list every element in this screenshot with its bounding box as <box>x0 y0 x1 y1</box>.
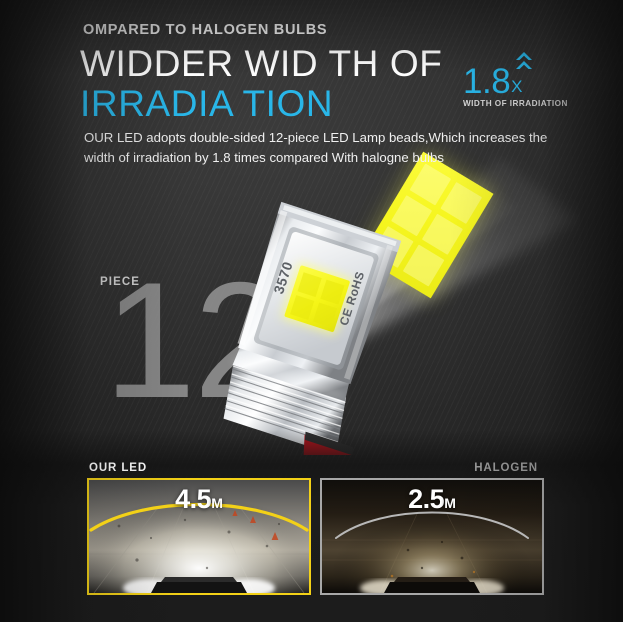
headline-line-1: WIDDER WID TH OF <box>80 45 442 82</box>
advertisement-banner: 12 PIECE <box>0 0 623 622</box>
chip-cell <box>422 213 464 255</box>
watermark-piece-label: PIECE <box>100 276 140 288</box>
panel-label-halogen: HALOGEN <box>458 462 538 474</box>
distance-number-led: 4.5 <box>175 484 211 514</box>
comparison-panel-our-led: 4.5M <box>87 478 311 595</box>
distance-unit-halogen: M <box>444 495 456 511</box>
badge-multiplier-symbol: X <box>511 78 522 98</box>
distance-value-led: 4.5M <box>89 484 309 515</box>
distance-number-halogen: 2.5 <box>408 484 444 514</box>
irradiation-multiplier-badge: 1.8 X WIDTH OF IRRADIATION <box>463 58 573 108</box>
distance-value-halogen: 2.5M <box>322 484 542 515</box>
body-description-text: OUR LED adopts double-sided 12-piece LED… <box>84 128 581 169</box>
led-bulb-product-image: 3570 CE RoHS <box>190 185 420 455</box>
panel-label-our-led: OUR LED <box>89 462 147 474</box>
comparison-panel-halogen: 2.5M <box>320 478 544 595</box>
headline-line-2: IRRADIA TION <box>80 85 333 122</box>
eyebrow-text: OMPARED TO HALOGEN BULBS <box>83 22 327 38</box>
distance-unit-led: M <box>211 495 223 511</box>
badge-value: 1.8 <box>463 65 510 98</box>
chip-cell <box>441 182 483 224</box>
double-chevron-up-icon <box>516 52 532 72</box>
